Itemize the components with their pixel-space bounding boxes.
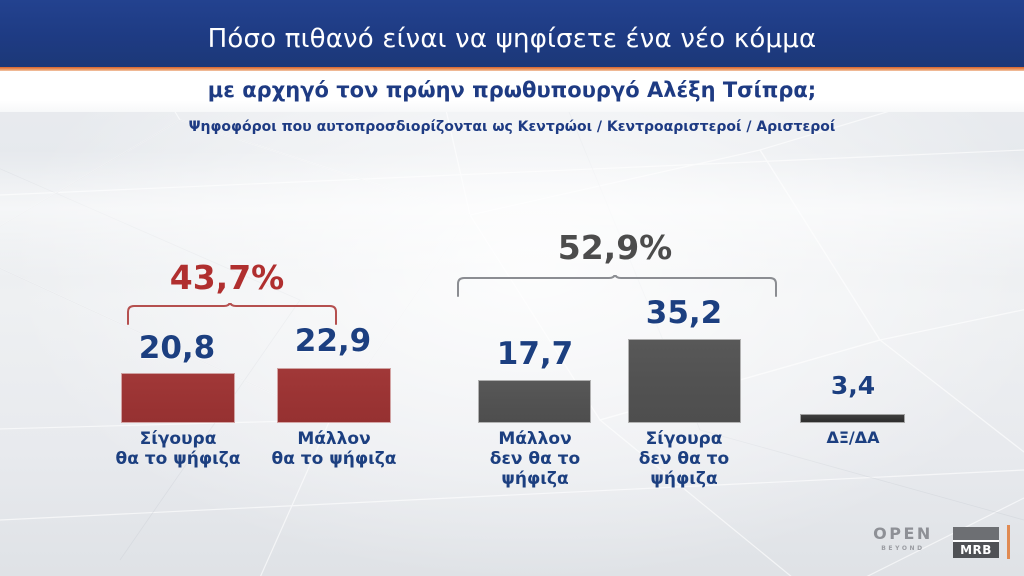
bracket-likely: [126, 303, 338, 325]
bar-label-3: Σίγουρα δεν θα το ψήφιζα: [614, 429, 754, 489]
bar-chart: 43,7% 52,9% 20,8 Σίγουρα θα το ψήφιζα 22…: [0, 0, 1024, 576]
bar-label-0: Σίγουρα θα το ψήφιζα: [108, 429, 248, 469]
mrb-logo-text: MRB: [953, 542, 999, 558]
open-beyond-logo: OPEN BEYOND: [866, 526, 940, 552]
logo-accent-bar: [1007, 525, 1010, 559]
bar-2: [478, 380, 591, 423]
bar-4: [800, 414, 905, 423]
bar-value-1: 22,9: [274, 323, 392, 359]
bar-3: [628, 339, 741, 423]
bar-label-2: Μάλλον δεν θα το ψήφιζα: [465, 429, 605, 489]
bracket-unlikely: [456, 275, 778, 297]
beyond-logo-text: BEYOND: [866, 546, 940, 552]
bar-1: [277, 368, 391, 423]
bar-0: [121, 373, 235, 423]
mrb-logo: MRB: [953, 527, 999, 558]
bar-value-3: 35,2: [625, 295, 743, 331]
open-logo-text: OPEN: [866, 526, 940, 542]
bar-value-2: 17,7: [476, 336, 594, 372]
bar-label-4: ΔΞ/ΔΑ: [788, 429, 918, 448]
mrb-logo-bar: [953, 527, 999, 542]
poll-slide: Πόσο πιθανό είναι να ψηφίσετε ένα νέο κό…: [0, 0, 1024, 576]
bar-value-0: 20,8: [118, 330, 236, 366]
group-total-unlikely: 52,9%: [495, 228, 735, 267]
group-total-likely: 43,7%: [107, 258, 347, 297]
bar-label-1: Μάλλον θα το ψήφιζα: [264, 429, 404, 469]
bar-value-4: 3,4: [800, 371, 906, 400]
